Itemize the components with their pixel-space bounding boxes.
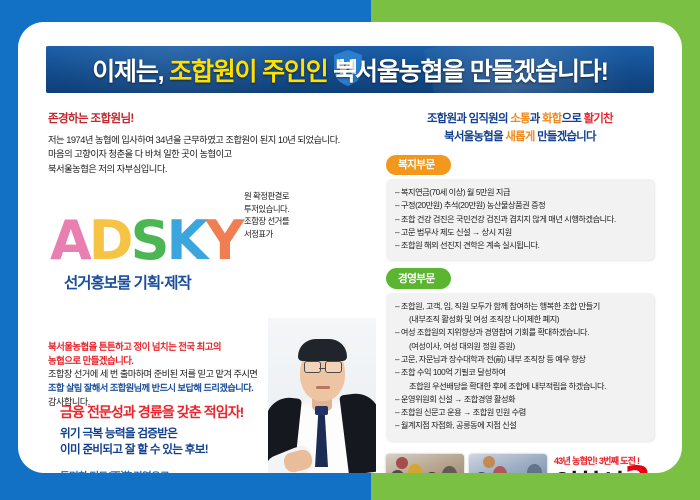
event-photo-2 <box>469 454 547 473</box>
photo-figure <box>396 457 408 469</box>
pledge-black-line: 조합장 선거에 세 번 출마하며 준비된 저를 믿고 맡겨 주시면 <box>48 368 298 382</box>
headline-seg-red: 활기찬 <box>584 113 613 125</box>
adsky-wordmark: ADSKY <box>50 214 270 268</box>
photo-figure <box>424 472 440 473</box>
candidate-branding: 43년 농협인! 3번째 도전 ! 임학성 3 <box>554 454 682 473</box>
list-item: – 조합 수익 100억 기필코 달성하여 <box>395 366 645 379</box>
title-suffix: 북서울농협을 만들겠습니다! <box>328 58 608 86</box>
headline-seg: 만들겠습니다 <box>535 131 596 143</box>
intro-line: 북서울농협은 저의 자부심입니다. <box>48 162 368 176</box>
logo-letter-y: Y <box>205 209 241 272</box>
intro-line: 마음의 고향이자 청춘을 다 바쳐 일한 곳이 농협이고 <box>48 147 368 161</box>
portrait-mouth <box>316 386 330 389</box>
candidate-name-row: 임학성 3 <box>554 466 682 473</box>
management-list: – 조합원, 고객, 임, 직원 모두가 함께 참여하는 행복한 조합 만들기 … <box>395 300 645 433</box>
pledge-blue-line: 조합 살림 잘해서 조합원님께 반드시 보답해 드리겠습니다. <box>48 382 298 396</box>
headline-seg-orange: 새롭게 <box>505 131 534 143</box>
right-headline-line-1: 조합원과 임직원의 소통과 화합으로 활기찬 <box>386 110 654 128</box>
photo-figure <box>442 466 457 473</box>
headline-seg-orange: 화합 <box>542 113 562 125</box>
adsky-tagline: 선거홍보물 기획·제작 <box>50 271 270 293</box>
event-photos <box>386 454 547 473</box>
logo-letter-a: A <box>50 209 89 272</box>
list-item: – 여성 조합원의 지위향상과 경영참여 기회를 확대하겠습니다. <box>395 326 645 339</box>
photo-figure <box>483 456 495 468</box>
list-item: (내부조직 활성화 및 여성 조직장 나이제한 폐지) <box>395 313 645 326</box>
intro-line: 저는 1974년 농협에 입사하여 34년을 근무하였고 조합원이 된지 10년… <box>48 133 368 147</box>
intro-paragraph: 저는 1974년 농협에 입사하여 34년을 근무하였고 조합원이 된지 10년… <box>48 133 368 176</box>
title-prefix: 이제는, <box>92 58 169 86</box>
slogan-navy-line: 위기 극복 능력을 검증받은 <box>60 426 300 442</box>
right-headline: 조합원과 임직원의 소통과 화합으로 활기찬 북서울농협을 새롭게 만들겠습니다 <box>386 110 654 147</box>
slogan-blue-line: 투명한 정도(正道)경영으로 <box>60 470 300 473</box>
section-tag-welfare: 복지부문 <box>386 155 451 176</box>
logo-letter-d: D <box>89 209 131 272</box>
event-photo-1 <box>386 454 464 473</box>
section-management: 경영부문 – 조합원, 고객, 임, 직원 모두가 함께 참여하는 행복한 조합… <box>386 268 654 440</box>
list-item: (여성이사, 여성 대의원 정원 증원) <box>395 340 645 353</box>
photo-figure <box>408 464 422 473</box>
slogan-blue: 투명한 정도(正道)경영으로 조합원님들의 자긍심을 높여 줄 후보! <box>60 470 300 473</box>
candidate-name: 임학성 <box>554 472 623 473</box>
pledge-red-line: 농협으로 만들겠습니다. <box>48 354 298 368</box>
logo-letter-k: K <box>167 209 206 272</box>
photo-figure <box>493 466 507 473</box>
pledge-red-line: 북서울농협을 튼튼하고 정이 넘치는 전국 최고의 <box>48 340 298 354</box>
list-item: – 조합원 해외 선진지 견학은 계속 실시됩니다. <box>395 239 645 252</box>
headline-seg-orange: 소통 <box>510 113 530 125</box>
photo-figure <box>474 472 489 473</box>
list-item: – 운영위원회 신설 → 조합경영 활성화 <box>395 393 645 406</box>
list-item: – 복지연금(70세 이상) 월 5만원 지급 <box>395 186 645 199</box>
photo-figure <box>527 464 542 473</box>
section-body-management: – 조합원, 고객, 임, 직원 모두가 함께 참여하는 행복한 조합 만들기 … <box>386 293 654 441</box>
welfare-list: – 복지연금(70세 이상) 월 5만원 지급 – 구정(20만원) 추석(20… <box>395 186 645 252</box>
list-item: – 조합원 신문고 운용 → 조합원 민원 수렴 <box>395 406 645 419</box>
photo-figure <box>390 470 405 473</box>
headline-seg: 으로 <box>562 113 584 125</box>
section-body-welfare: – 복지연금(70세 이상) 월 5만원 지급 – 구정(20만원) 추석(20… <box>386 179 654 260</box>
list-item: – 조합 건강 검진은 국민건강 검진과 겹치지 않게 매년 시행하겠습니다. <box>395 213 645 226</box>
title-highlight: 조합원이 주인인 <box>169 58 327 86</box>
headline-seg: 조합원과 임직원의 <box>427 113 510 125</box>
right-headline-line-2: 북서울농협을 새롭게 만들겠습니다 <box>386 128 654 146</box>
main-title-banner: 이제는, 조합원이 주인인 북서울농협을 만들겠습니다! <box>46 46 654 93</box>
headline-seg: 북서울농협을 <box>444 131 505 143</box>
portrait-glasses-bridge <box>319 368 325 369</box>
slogan-red: 금융 전문성과 경륜을 갖춘 적임자! <box>60 402 310 422</box>
left-column: 존경하는 조합원님! 저는 1974년 농협에 입사하여 34년을 근무하였고 … <box>48 110 368 176</box>
headline-seg: 과 <box>530 113 542 125</box>
portrait-glasses-right <box>325 361 342 373</box>
greeting-heading: 존경하는 조합원님! <box>48 110 368 126</box>
right-column: 조합원과 임직원의 소통과 화합으로 활기찬 북서울농협을 새롭게 만들겠습니다… <box>386 110 654 441</box>
adsky-logo: ADSKY 선거홍보물 기획·제작 <box>50 214 270 293</box>
section-welfare: 복지부문 – 복지연금(70세 이상) 월 5만원 지급 – 구정(20만원) … <box>386 155 654 261</box>
side-note-line: 원 확정판결로 <box>244 190 364 203</box>
list-item: 조합원 우선배당을 확대한 후에 조합에 내부적립을 하겠습니다. <box>395 380 645 393</box>
pledge-block: 북서울농협을 튼튼하고 정이 넘치는 전국 최고의 농협으로 만들겠습니다. 조… <box>48 340 298 410</box>
slogan-navy: 위기 극복 능력을 검증받은 이미 준비되고 잘 할 수 있는 후보! <box>60 426 300 459</box>
poster-card: 이제는, 조합원이 주인인 북서울농협을 만들겠습니다! 존경하는 조합원님! … <box>18 22 682 473</box>
list-item: – 고문 법무사 제도 신설 → 상시 지원 <box>395 226 645 239</box>
portrait-hair <box>298 339 347 361</box>
list-item: – 고문, 자문님과 장수대학과 전(前) 내부 조직장 등 예우 향상 <box>395 353 645 366</box>
list-item: – 조합원, 고객, 임, 직원 모두가 함께 참여하는 행복한 조합 만들기 <box>395 300 645 313</box>
list-item: – 월계지점 자점화, 공릉동에 지점 신설 <box>395 419 645 432</box>
logo-letter-s: S <box>131 209 167 272</box>
page-title: 이제는, 조합원이 주인인 북서울농협을 만들겠습니다! <box>92 52 607 88</box>
portrait-tie-knot <box>315 406 328 415</box>
list-item: – 구정(20만원) 추석(20만원) 농산물상품권 증정 <box>395 199 645 212</box>
section-tag-management: 경영부문 <box>386 268 451 289</box>
candidate-number: 3 <box>624 466 652 473</box>
slogan-navy-line: 이미 준비되고 잘 할 수 있는 후보! <box>60 442 300 458</box>
